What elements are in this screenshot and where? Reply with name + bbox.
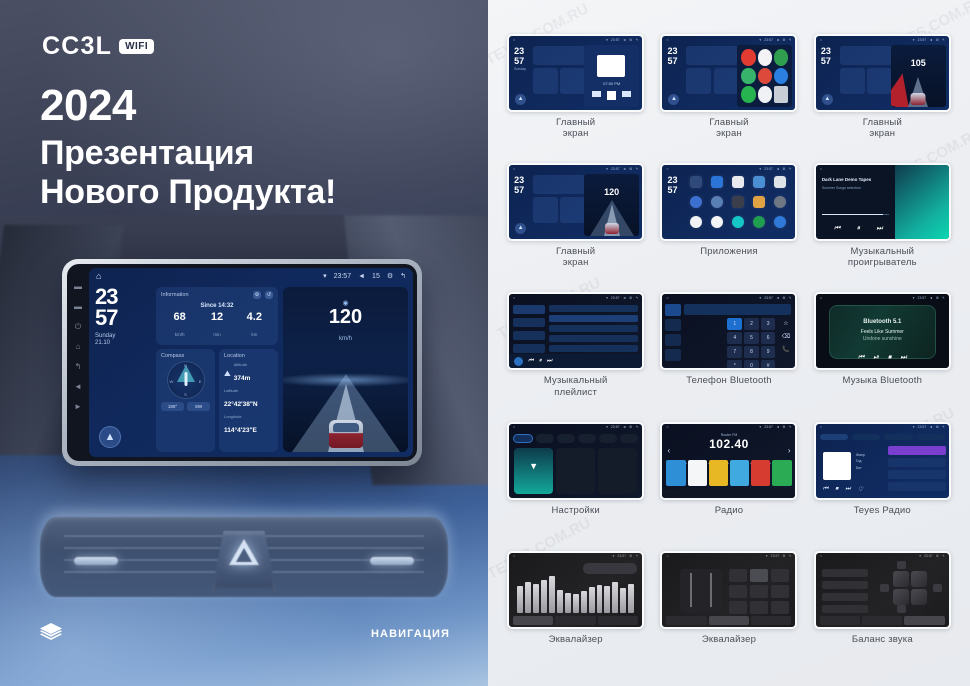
thumb-apps[interactable]: ⌂▾23:57◄⚙↰ 23 57 [660, 163, 797, 241]
status-volume: 15 [372, 273, 380, 280]
information-since: Since 14:32 [161, 303, 273, 309]
preset-button[interactable] [771, 601, 789, 614]
tile-caption: Музыкальный проигрыватель [848, 246, 917, 268]
balance-preset[interactable] [822, 581, 868, 589]
speed-unit: km/h [339, 336, 352, 342]
volume-icon[interactable]: ◄ [358, 273, 365, 280]
grid-cell[interactable]: ⌂▾23:57◄⚙↰ [502, 292, 649, 417]
app-icon[interactable] [774, 216, 786, 228]
compass-w-label: W [170, 379, 174, 384]
prev-icon[interactable]: ⏮ [858, 354, 864, 362]
tile-caption: Телефон Bluetooth [686, 375, 772, 386]
thumb-music-playlist[interactable]: ⌂▾23:57◄⚙↰ [507, 292, 644, 370]
tile-caption: Эквалайзер [549, 634, 603, 645]
play-pause-icon[interactable]: ⏯ [873, 354, 879, 362]
tab-balance[interactable] [555, 616, 595, 625]
mini-clock-hours: 23 [514, 47, 524, 55]
app-icon[interactable] [711, 176, 723, 188]
logo-text: CC3L [42, 32, 112, 61]
tab-sliders[interactable] [709, 616, 749, 625]
latitude-value: 22°42'38"N [224, 401, 258, 408]
key-next-icon[interactable]: ► [74, 402, 83, 411]
compass-direction: SW [187, 402, 210, 411]
app-icon[interactable] [711, 216, 723, 228]
status-time: 23:57 [334, 273, 352, 280]
speed-value: 120 [283, 307, 408, 327]
back-icon[interactable]: ↰ [400, 272, 406, 280]
radio-presets[interactable] [666, 460, 791, 486]
thumb-teyes-radio[interactable]: ⌂▾23:57◄⚙↰ ЖанрГодБит [814, 422, 951, 500]
vent-slat-left [74, 557, 118, 565]
screenshot-grid-panel: TEYES.COM.RU TEYES.COM.RU TEYES.COM.RU T… [488, 0, 970, 686]
preset-3[interactable] [709, 460, 728, 486]
preset-button[interactable] [750, 569, 768, 582]
preset-4[interactable] [730, 460, 749, 486]
preset-5[interactable] [751, 460, 770, 486]
preset-2[interactable] [688, 460, 707, 486]
player-track-title: Dark Lane Demo Tapes [822, 177, 891, 182]
location-title: Location [224, 353, 245, 359]
tile-grid: ⌂▾23:57◄⚙↰ 23 57 Sunday 07:50 PM [502, 34, 956, 676]
equalizer-bottom-tabs[interactable] [513, 616, 638, 625]
app-icon[interactable] [732, 196, 744, 208]
tile-speed-value: 120 [584, 187, 639, 197]
hero-headline: Презентация Нового Продукта! [40, 134, 336, 213]
app-icon-grid[interactable] [684, 174, 791, 236]
clock-widget: 23 57 Sunday 21.10 ▲ [95, 287, 151, 452]
balance-left-icon[interactable] [880, 584, 889, 592]
app-icon[interactable] [690, 216, 702, 228]
home-icon[interactable]: ⌂ [96, 271, 101, 281]
tile-caption: Главный экран [556, 117, 595, 139]
information-stats: 68 km/h 12 min 4.2 [161, 312, 273, 341]
mini-clock-hours: 23 [514, 176, 524, 184]
more-panel-2[interactable] [598, 448, 637, 494]
mini-clock-hours: 23 [667, 176, 677, 184]
mini-clock-minutes: 57 [514, 57, 524, 65]
seat-front-right[interactable] [911, 571, 927, 587]
grid-cell[interactable]: ⌂▾23:57◄⚙↰ ▾ [502, 422, 649, 547]
grid-cell[interactable]: ⌂▾23:57◄⚙↰ 23 57 105 ▲ Главный э [809, 34, 956, 159]
balance-seat-pad[interactable] [893, 571, 927, 605]
longitude-label: Longitude [224, 414, 273, 419]
preset-button[interactable] [729, 585, 747, 598]
prev-icon[interactable]: ⏮ [834, 225, 840, 233]
key-volume-up-icon[interactable]: ▬ [74, 302, 83, 311]
mini-clock-sub: Sunday [514, 67, 526, 72]
compass-n-label: N [184, 363, 187, 368]
mini-clock-hours: 23 [821, 47, 831, 55]
head-unit-screen[interactable]: ⌂ ▾ 23:57 ◄ 15 ⚙ ↰ [89, 268, 413, 457]
car-interior: ▬ ▬ ⏻ ⌂ ↰ ◄ ► ⌂ ▾ 23:57 [0, 225, 488, 686]
player-track-sub: Summer Songs selection [822, 186, 891, 190]
seat-front-left[interactable] [893, 571, 909, 587]
next-icon[interactable]: ⏭ [845, 486, 850, 493]
information-card[interactable]: Information ⚙ ↺ Since 14:32 [156, 287, 278, 345]
stat-avg-speed-value: 68 [161, 312, 198, 323]
grid-cell[interactable]: ⌂▾23:57◄⚙↰ 123 456 789 *0# [655, 292, 802, 417]
prev-icon[interactable]: ⏮ [823, 486, 828, 493]
seat-rear-right[interactable] [911, 589, 927, 605]
more-panel-1[interactable] [556, 448, 595, 494]
tile-speed-value: 105 [891, 58, 946, 68]
lead-vehicle-icon [329, 420, 363, 448]
app-icon[interactable] [711, 196, 723, 208]
equalizer-band-sliders[interactable] [517, 569, 634, 613]
next-icon[interactable]: ⏭ [900, 354, 906, 362]
grid-cell[interactable]: ⌂▾23:57◄⚙↰ 23 57 Sunday 07:50 PM [502, 34, 649, 159]
product-logo: CC3L WIFI [42, 32, 154, 61]
preset-button[interactable] [771, 585, 789, 598]
stat-avg-speed-unit: km/h [175, 332, 185, 337]
thumb-music-player[interactable]: ⌂▾23:57◄⚙↰ Dark Lane Demo Tapes Summer S… [814, 163, 951, 241]
next-icon[interactable]: ⏭ [876, 225, 882, 233]
air-vent-band [40, 517, 448, 597]
information-title: Information [161, 292, 189, 298]
key-prev-icon[interactable]: ◄ [74, 382, 83, 391]
compass-e-label: E [199, 379, 202, 384]
preset-6[interactable] [772, 460, 791, 486]
bt-info-card: Bluetooth 5.1 Feels Like Summer Undone s… [829, 305, 936, 359]
tile-caption: Главный экран [709, 117, 748, 139]
compass-title: Compass [161, 353, 184, 359]
location-card[interactable]: Location ⛰ Altitude 374m [219, 349, 278, 452]
tab-balance[interactable] [904, 616, 944, 625]
thumb-home-apps[interactable]: ⌂▾23:57◄⚙↰ 23 57 ▲ [660, 34, 797, 112]
tile-caption: Музыка Bluetooth [843, 375, 923, 386]
grid-cell[interactable]: ⌂▾23:57◄⚙↰ 23 57 [655, 163, 802, 288]
stat-duration-value: 12 [198, 312, 235, 323]
stat-distance: 4.2 km [236, 312, 273, 341]
longitude-value: 114°4'23"E [224, 427, 257, 434]
hardware-key-strip[interactable]: ▬ ▬ ⏻ ⌂ ↰ ◄ ► [67, 268, 89, 457]
mini-clock-hours: 23 [667, 47, 677, 55]
radio-frequency: 102.40 [662, 437, 795, 451]
hero-bottom-label: НАВИГАЦИЯ [371, 628, 450, 640]
app-icon[interactable] [753, 196, 765, 208]
navigation-fab-icon[interactable]: ▲ [99, 426, 121, 448]
mini-clock-minutes: 57 [667, 57, 677, 65]
tile-caption: Музыкальный плейлист [544, 375, 608, 397]
speed-readout: ◉ 120 km/h [283, 299, 408, 345]
key-star[interactable]: * [727, 360, 742, 370]
bt-track: Feels Like Summer [830, 329, 935, 335]
presentation-slide: CC3L WIFI 2024 Презентация Нового Продук… [0, 0, 970, 686]
layers-icon[interactable] [38, 622, 64, 644]
stop-icon[interactable]: ⏹ [888, 354, 892, 362]
compass-card[interactable]: Compass N E S W [156, 349, 215, 452]
backspace-icon[interactable]: ⌫ [779, 331, 792, 344]
key-9[interactable]: 9 [761, 346, 776, 358]
balance-preset-list[interactable] [822, 569, 868, 617]
app-icon[interactable] [732, 176, 744, 188]
app-icon[interactable] [774, 196, 786, 208]
settings-icon[interactable]: ⚙ [387, 272, 393, 280]
grid-cell[interactable]: ⌂▾23:57◄⚙↰ 23 57 ▲ Главный экран [655, 34, 802, 159]
seat-rear-left[interactable] [893, 589, 909, 605]
tab-more[interactable] [751, 616, 791, 625]
preset-button[interactable] [750, 585, 768, 598]
clock-minutes: 57 [95, 308, 151, 329]
grid-cell[interactable]: ⌂▾23:57⚙↰ Эквалайзер [502, 551, 649, 676]
key-5[interactable]: 5 [744, 332, 759, 344]
key-7[interactable]: 7 [727, 346, 742, 358]
tile-caption: Главный экран [556, 246, 595, 268]
logo-wifi-badge: WIFI [119, 39, 154, 54]
altitude-label: Altitude [234, 362, 251, 367]
wifi-icon: ▾ [531, 459, 537, 472]
thumb-equalizer-bars[interactable]: ⌂▾23:57⚙↰ [507, 551, 644, 629]
hero-year: 2024 [40, 84, 136, 128]
radio-prev-icon[interactable]: ‹ [667, 446, 670, 455]
key-back-icon[interactable]: ↰ [74, 362, 83, 371]
key-8[interactable]: 8 [744, 346, 759, 358]
bt-version: Bluetooth 5.1 [863, 319, 901, 325]
tile-caption: Эквалайзер [702, 634, 756, 645]
compass-needle-icon [184, 372, 187, 386]
favorite-icon[interactable]: ♡ [858, 486, 863, 493]
stat-distance-value: 4.2 [236, 312, 273, 323]
status-bar: ⌂ ▾ 23:57 ◄ 15 ⚙ ↰ [89, 268, 413, 284]
tab-more[interactable] [598, 616, 638, 625]
altitude-value: 374m [234, 375, 251, 382]
grid-cell[interactable]: ⌂▾23:57◄⚙↰ Bluetooth 5.1 Feels Like Summ… [809, 292, 956, 417]
thumb-home-media[interactable]: ⌂▾23:57◄⚙↰ 23 57 Sunday 07:50 PM [507, 34, 644, 112]
mini-clock-minutes: 57 [667, 186, 677, 194]
balance-preset[interactable] [822, 593, 868, 601]
info-reset-icon[interactable]: ↺ [265, 291, 273, 299]
pause-icon[interactable]: ⏸ [857, 225, 861, 233]
compass-dial: N E S W [167, 361, 205, 399]
tile-caption: Teyes Радио [854, 505, 911, 516]
clock-day: Sunday [95, 333, 151, 341]
key-0[interactable]: 0 [744, 360, 759, 370]
app-icon[interactable] [690, 196, 702, 208]
tile-caption: Радио [715, 505, 743, 516]
hazard-triangle-icon[interactable] [229, 539, 259, 565]
app-icon[interactable] [774, 176, 786, 188]
tab-eq[interactable] [820, 616, 860, 625]
next-icon[interactable]: ⏭ [547, 358, 552, 365]
tile-caption: Приложения [700, 246, 758, 257]
thumb-home-drive-105[interactable]: ⌂▾23:57◄⚙↰ 23 57 105 ▲ [814, 34, 951, 112]
preset-button[interactable] [729, 601, 747, 614]
stop-icon[interactable]: ⏹ [835, 486, 838, 493]
balance-down-icon[interactable] [897, 605, 906, 613]
latitude-label: Latitude [224, 388, 273, 393]
app-icon[interactable] [732, 216, 744, 228]
balance-bottom-tabs[interactable] [820, 616, 945, 625]
tile-caption: Главный экран [863, 117, 902, 139]
preset-1[interactable] [666, 460, 685, 486]
preset-button[interactable] [771, 569, 789, 582]
preset-button[interactable] [750, 601, 768, 614]
tab-sliders[interactable] [862, 616, 902, 625]
key-1[interactable]: 1 [727, 318, 742, 330]
stat-duration: 12 min [198, 312, 235, 341]
wifi-icon: ▾ [323, 272, 327, 280]
hero-headline-line1: Презентация [40, 134, 336, 173]
favorite-icon[interactable]: ☆ [779, 318, 792, 331]
balance-preset[interactable] [822, 569, 868, 577]
hero-panel: CC3L WIFI 2024 Презентация Нового Продук… [0, 0, 488, 686]
grid-cell[interactable]: ⌂▾23:57◄⚙↰ Dark Lane Demo Tapes Summer S… [809, 163, 956, 288]
key-3[interactable]: 3 [761, 318, 776, 330]
head-unit: ▬ ▬ ⏻ ⌂ ↰ ◄ ► ⌂ ▾ 23:57 [62, 259, 422, 466]
tile-caption: Баланс звука [852, 634, 913, 645]
key-home-icon[interactable]: ⌂ [74, 342, 83, 351]
tab-eq[interactable] [513, 616, 553, 625]
balance-right-icon[interactable] [933, 584, 942, 592]
grid-cell[interactable]: ⌂▾23:57◄⚙↰ Router FM 102.40 ‹ › [655, 422, 802, 547]
tile-caption: Настройки [551, 505, 599, 516]
thumb-equalizer-sliders[interactable]: ⌂▾23:57⚙↰ [660, 551, 797, 629]
pause-icon[interactable]: ⏸ [539, 358, 542, 365]
thumb-bt-music[interactable]: ⌂▾23:57◄⚙↰ Bluetooth 5.1 Feels Like Summ… [814, 292, 951, 370]
equalizer-bottom-tabs[interactable] [666, 616, 791, 625]
app-icon[interactable] [753, 176, 765, 188]
key-4[interactable]: 4 [727, 332, 742, 344]
key-volume-down-icon[interactable]: ▬ [74, 282, 83, 291]
bt-artist: Undone sunshine [830, 336, 935, 342]
driving-view-card[interactable]: ◉ 120 km/h [283, 287, 408, 452]
wifi-panel[interactable]: ▾ [514, 448, 553, 494]
clock-date: 21.10 [95, 340, 151, 348]
compass-heading: 180° [161, 402, 184, 411]
grid-cell[interactable]: ⌂▾23:57⚙↰ [809, 551, 956, 676]
altitude-mountain-icon: ⛰ [224, 369, 231, 379]
grid-cell[interactable]: ⌂▾23:57⚙↰ [655, 551, 802, 676]
balance-up-icon[interactable] [897, 561, 906, 569]
balance-preset[interactable] [822, 605, 868, 613]
mini-clock-minutes: 57 [514, 186, 524, 194]
preset-button[interactable] [729, 569, 747, 582]
thumb-radio[interactable]: ⌂▾23:57◄⚙↰ Router FM 102.40 ‹ › [660, 422, 797, 500]
key-2[interactable]: 2 [744, 318, 759, 330]
stat-duration-unit: min [213, 332, 220, 337]
hero-headline-line2: Нового Продукта! [40, 173, 336, 212]
radio-next-icon[interactable]: › [788, 446, 791, 455]
key-6[interactable]: 6 [761, 332, 776, 344]
info-settings-icon[interactable]: ⚙ [253, 291, 261, 299]
stat-avg-speed: 68 km/h [161, 312, 198, 341]
thumb-home-drive-120[interactable]: ⌂▾23:57◄⚙↰ 23 57 120 ▲ [507, 163, 644, 241]
vent-slat-right [370, 557, 414, 565]
thumb-sound-balance[interactable]: ⌂▾23:57⚙↰ [814, 551, 951, 629]
call-icon[interactable]: 📞 [779, 344, 792, 357]
thumb-settings[interactable]: ⌂▾23:57◄⚙↰ ▾ [507, 422, 644, 500]
prev-icon[interactable]: ⏮ [528, 358, 533, 365]
mini-clock-minutes: 57 [821, 57, 831, 65]
grid-cell[interactable]: ⌂▾23:57◄⚙↰ ЖанрГодБит [809, 422, 956, 547]
key-hash[interactable]: # [761, 360, 776, 370]
thumb-bt-phone[interactable]: ⌂▾23:57◄⚙↰ 123 456 789 *0# [660, 292, 797, 370]
grid-cell[interactable]: ⌂▾23:57◄⚙↰ 23 57 120 ▲ Главный э [502, 163, 649, 288]
key-power-icon[interactable]: ⏻ [74, 322, 83, 331]
tab-eq[interactable] [666, 616, 706, 625]
stat-distance-unit: km [251, 332, 257, 337]
app-icon[interactable] [690, 176, 702, 188]
compass-s-label: S [184, 392, 187, 397]
app-icon[interactable] [753, 216, 765, 228]
